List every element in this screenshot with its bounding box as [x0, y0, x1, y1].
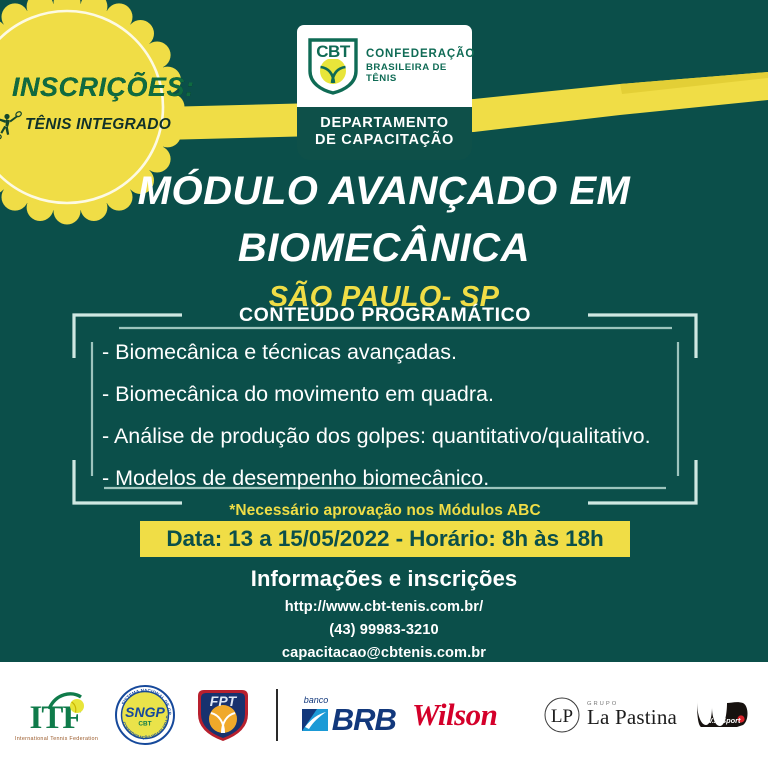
badge-line-2: TÊNIS INTEGRADO — [25, 116, 171, 134]
page-title: MÓDULO AVANÇADO EM BIOMECÂNICA SÃO PAULO… — [0, 163, 768, 314]
list-item: - Modelos de desempenho biomecânico. — [102, 468, 690, 490]
sponsor-logo-fpt: FPT — [192, 686, 254, 744]
svg-text:CBT: CBT — [316, 42, 351, 61]
date-time-text: Data: 13 a 15/05/2022 - Horário: 8h às 1… — [166, 526, 603, 552]
department-line-2: DE CAPACITAÇÃO — [301, 132, 468, 149]
tennis-player-icon — [0, 110, 22, 140]
la-pastina-monogram-icon: LP — [543, 696, 581, 734]
cbt-logo-card: CBT CONFEDERAÇÃO BRASILEIRA DE TÊNIS — [297, 25, 472, 107]
svg-text:FPT: FPT — [210, 693, 238, 709]
cbt-name-line-2: BRASILEIRA DE TÊNIS — [366, 62, 475, 84]
brb-arrow-mark-icon — [300, 705, 330, 735]
brb-prefix: banco — [304, 695, 329, 705]
email-address[interactable]: capacitacao@cbtenis.com.br — [0, 645, 768, 661]
contact-info-block: Informações e inscrições http://www.cbt-… — [0, 566, 768, 661]
program-content-frame: CONTEÚDO PROGRAMÁTICO - Biomecânica e té… — [64, 306, 706, 512]
sponsor-logo-wilson: Wilson — [412, 697, 497, 733]
prerequisite-note: *Necessário aprovação nos Módulos ABC — [64, 502, 706, 520]
date-time-bar: Data: 13 a 15/05/2022 - Horário: 8h às 1… — [140, 521, 630, 557]
cbt-shield-tennis-ball-icon: CBT — [307, 37, 359, 95]
la-pastina-wordmark: La Pastina — [587, 707, 677, 728]
brb-wordmark: BRB — [332, 706, 396, 734]
list-item: - Análise de produção dos golpes: quanti… — [102, 426, 690, 448]
website-link[interactable]: http://www.cbt-tenis.com.br/ — [0, 599, 768, 615]
footer-divider — [276, 689, 278, 741]
itf-tagline: International Tennis Federation — [15, 736, 98, 742]
wilson-wordmark: Wilson — [412, 697, 497, 733]
cbt-name-line-1: CONFEDERAÇÃO — [366, 48, 475, 61]
svg-text:LP: LP — [551, 706, 573, 727]
title-line-2: BIOMECÂNICA — [0, 220, 768, 277]
fpt-shield-icon: FPT — [192, 686, 254, 744]
cbt-logo-block: CBT CONFEDERAÇÃO BRASILEIRA DE TÊNIS DEP… — [297, 25, 472, 160]
sponsor-logo-brb: banco BRB — [300, 695, 396, 735]
sponsor-logo-la-pastina: LP GRUPO La Pastina — [543, 696, 677, 734]
department-banner: DEPARTAMENTO DE CAPACITAÇÃO — [297, 107, 472, 160]
program-bullet-list: - Biomecânica e técnicas avançadas. - Bi… — [102, 342, 690, 510]
list-item: - Biomecânica do movimento em quadra. — [102, 384, 690, 406]
svg-text:W.A Sport: W.A Sport — [706, 716, 741, 725]
department-line-1: DEPARTAMENTO — [301, 115, 468, 132]
wa-sport-logo-icon: W.A Sport — [693, 695, 753, 735]
svg-text:SNGP: SNGP — [125, 704, 165, 720]
sngp-circular-seal-icon: SISTEMA NACIONAL DE GRADUAÇÃO CONFEDERAÇ… — [114, 684, 176, 746]
poster-canvas: INSCRIÇÕES: TÊNIS INTEGRADO — [0, 0, 768, 768]
sponsor-footer: ITF International Tennis Federation SIST… — [0, 662, 768, 768]
contact-heading: Informações e inscrições — [0, 566, 768, 592]
sponsor-logo-itf: ITF International Tennis Federation — [15, 689, 98, 742]
title-line-1: MÓDULO AVANÇADO EM — [0, 163, 768, 220]
itf-swoosh-ball-icon — [48, 689, 84, 721]
svg-text:CBT: CBT — [139, 721, 152, 728]
list-item: - Biomecânica e técnicas avançadas. — [102, 342, 690, 364]
sponsor-logo-wa-sport: W.A Sport — [693, 695, 753, 735]
sponsor-logo-sngp: SISTEMA NACIONAL DE GRADUAÇÃO CONFEDERAÇ… — [114, 684, 176, 746]
phone-number[interactable]: (43) 99983-3210 — [0, 622, 768, 638]
badge-line-1: INSCRIÇÕES: — [12, 74, 186, 101]
section-heading: CONTEÚDO PROGRAMÁTICO — [64, 304, 706, 327]
